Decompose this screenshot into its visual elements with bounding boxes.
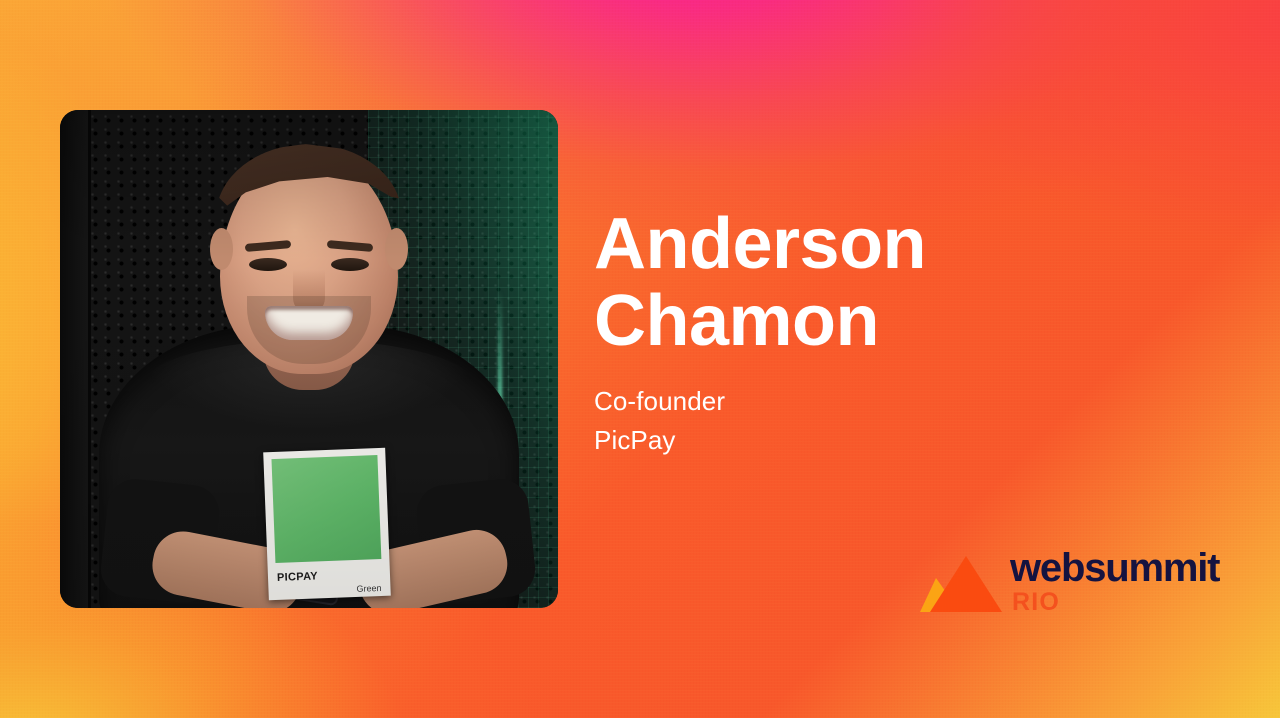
speaker-info: Anderson Chamon Co-founder PicPay [594, 206, 1194, 460]
websummit-rio-label: RIO [1012, 590, 1060, 615]
person-ear-right [385, 228, 408, 270]
speaker-card: PICPAY Green Anderson Chamon Co-founder … [0, 0, 1280, 718]
speaker-name-line-2: Chamon [594, 281, 879, 361]
picpay-colour-swatch: PICPAY Green [263, 448, 391, 601]
picpay-swatch-label: PICPAY [277, 570, 318, 584]
speaker-company: PicPay [594, 421, 1194, 460]
person-ear-left [210, 228, 233, 270]
speaker-role: Co-founder [594, 382, 1194, 421]
speaker-photo: PICPAY Green [60, 110, 558, 608]
person-eye-left [249, 258, 287, 271]
speaker-name: Anderson Chamon [594, 206, 1194, 360]
person-smile [265, 306, 353, 340]
picpay-swatch-green-block [271, 455, 381, 563]
photo-person: PICPAY Green [60, 110, 558, 608]
picpay-swatch-sublabel: Green [356, 583, 381, 594]
speaker-name-line-1: Anderson [594, 204, 926, 284]
websummit-rio-logo: websummit RIO [914, 550, 1234, 620]
websummit-wordmark: websummit [1010, 548, 1219, 588]
websummit-mountain-icon [914, 550, 1002, 612]
person-eye-right [331, 258, 369, 271]
